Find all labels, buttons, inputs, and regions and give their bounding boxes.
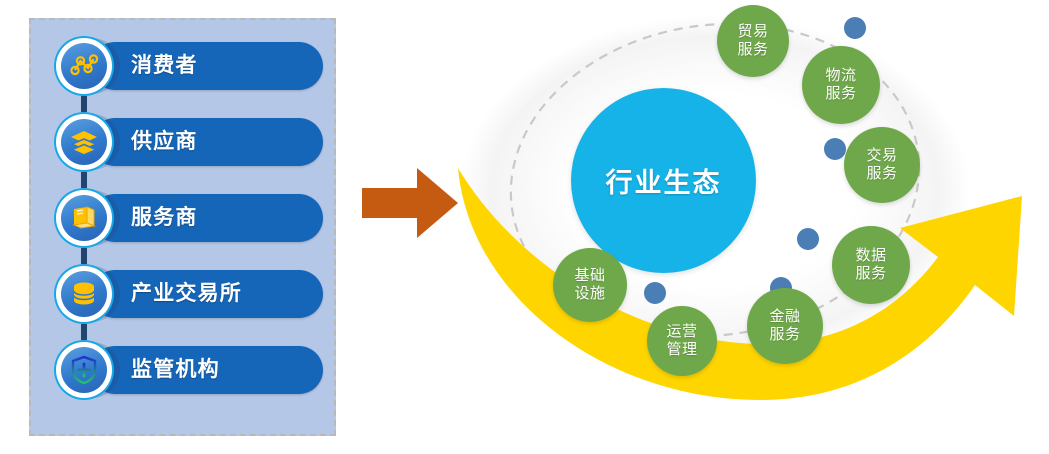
participant-badge[interactable] [56, 342, 112, 398]
ecosystem-node[interactable]: 贸易服务 [717, 5, 789, 77]
node-label-line1: 物流 [825, 67, 856, 85]
participant-badge[interactable] [56, 114, 112, 170]
node-label-line2: 服务 [825, 85, 856, 103]
participant-pill[interactable]: 供应商 [91, 118, 323, 166]
node-label-line2: 服务 [769, 326, 800, 344]
connector-line [81, 172, 87, 188]
ecosystem-node[interactable]: 交易服务 [844, 127, 920, 203]
connector-line [81, 324, 87, 340]
node-label-line1: 基础 [574, 267, 605, 285]
ecosystem-node[interactable]: 金融服务 [747, 288, 823, 364]
hub-circle[interactable]: 行业生态 [571, 88, 756, 273]
node-label-line2: 服务 [866, 165, 897, 183]
diagram-canvas: 消费者 供应商 [0, 0, 1049, 454]
ecosystem-node[interactable]: 运营管理 [647, 306, 717, 376]
connector-line [81, 96, 87, 112]
node-label-line1: 贸易 [737, 23, 768, 41]
database-icon [61, 271, 107, 317]
node-label-line1: 数据 [855, 247, 886, 265]
network-nodes-icon [61, 43, 107, 89]
node-label-line2: 管理 [666, 341, 697, 359]
ecosystem-node[interactable]: 物流服务 [802, 46, 880, 124]
participants-list: 消费者 供应商 [29, 18, 336, 436]
participant-label: 监管机构 [131, 346, 220, 394]
participant-label: 产业交易所 [131, 270, 242, 318]
ecosystem-diagram: 行业生态 贸易服务 物流服务 交易服务 数据服务 金融服务 运营管理 基础设施 [430, 0, 1049, 454]
participant-pill[interactable]: 服务商 [91, 194, 323, 242]
participant-pill[interactable]: 产业交易所 [91, 270, 323, 318]
list-item[interactable]: 监管机构 [29, 340, 336, 400]
node-label-line2: 服务 [855, 265, 886, 283]
accent-dot [644, 282, 666, 304]
participant-pill[interactable]: 监管机构 [91, 346, 323, 394]
participant-label: 消费者 [131, 42, 198, 90]
node-label-line1: 金融 [769, 308, 800, 326]
list-item[interactable]: 产业交易所 [29, 264, 336, 324]
node-label-line2: 设施 [574, 285, 605, 303]
ecosystem-node[interactable]: 基础设施 [553, 248, 627, 322]
node-label-line1: 运营 [666, 323, 697, 341]
accent-dot [844, 17, 866, 39]
participant-badge[interactable] [56, 38, 112, 94]
list-item[interactable]: 服务商 [29, 188, 336, 248]
participant-pill[interactable]: 消费者 [91, 42, 323, 90]
node-label-line1: 交易 [866, 147, 897, 165]
shield-plus-icon [61, 347, 107, 393]
connector-line [81, 248, 87, 264]
participant-badge[interactable] [56, 190, 112, 246]
participant-label: 服务商 [131, 194, 198, 242]
book-icon [61, 195, 107, 241]
hub-label: 行业生态 [606, 161, 722, 200]
ecosystem-node[interactable]: 数据服务 [832, 226, 910, 304]
node-label-line2: 服务 [737, 41, 768, 59]
participant-badge[interactable] [56, 266, 112, 322]
list-item[interactable]: 供应商 [29, 112, 336, 172]
accent-dot [824, 138, 846, 160]
layers-icon [61, 119, 107, 165]
participant-label: 供应商 [131, 118, 198, 166]
accent-dot [797, 228, 819, 250]
list-item[interactable]: 消费者 [29, 36, 336, 96]
